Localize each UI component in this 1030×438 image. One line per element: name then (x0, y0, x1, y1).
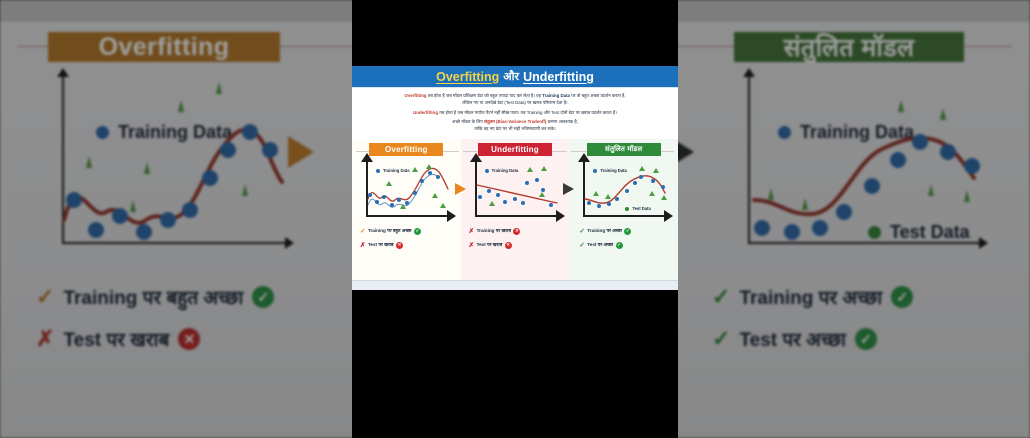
background-right-chart: Training Data Test Data (716, 72, 1006, 252)
data-point (513, 197, 517, 201)
data-point (940, 144, 956, 160)
data-point-test (527, 167, 533, 172)
error-badge-icon: ✕ (505, 242, 512, 249)
data-point-test (489, 201, 495, 206)
data-point (220, 142, 236, 158)
panel3-legend-training: Training Data (593, 168, 627, 173)
para2-line3: ताकि वह नए डेटा पर भी सही भविष्यवाणी कर … (474, 126, 555, 131)
data-point (964, 158, 980, 174)
card-header: Overfitting और Underfitting (352, 66, 678, 88)
screenshot-stage: ताकि Overfitting Training Data (0, 0, 1030, 438)
panel-underfitting: Underfitting Training Data (461, 139, 570, 280)
panel-overfitting: Overfitting Training Data (352, 139, 461, 280)
data-point-test (539, 192, 545, 197)
panel3-check-2: ✓ Test पर अच्छा ✓ (579, 241, 622, 249)
data-point (478, 195, 482, 199)
cross-icon: ✗ (36, 326, 54, 352)
card-footer-strip (352, 280, 678, 290)
check-label: Training पर अच्छा (587, 228, 622, 234)
data-point-test (178, 100, 184, 112)
check-label: Training पर बहुत अच्छा (368, 228, 411, 234)
data-point (496, 193, 500, 197)
data-point-test (898, 100, 904, 112)
header-word-underfitting: Underfitting (523, 70, 594, 84)
cross-icon: ✗ (469, 241, 474, 249)
panel-overfitting-chart: Training Data (360, 159, 456, 221)
legend-label: Test Data (632, 206, 651, 211)
cross-icon: ✗ (469, 227, 474, 235)
error-badge-icon: ✕ (513, 228, 520, 235)
check-label: Test पर अच्छा (739, 326, 846, 352)
data-point-test (440, 203, 446, 208)
panel2-check-2: ✗ Test पर खराब ✕ (469, 241, 512, 249)
header-conjunction: और (503, 69, 519, 84)
data-point-test (940, 108, 946, 120)
data-point-test (928, 184, 934, 196)
data-point-test (400, 204, 406, 209)
success-badge-icon: ✓ (616, 242, 623, 249)
check-icon: ✓ (579, 241, 584, 249)
panel-label-overfitting: Overfitting (369, 143, 443, 156)
check-label: Training पर अच्छा (739, 284, 882, 310)
blue-dot-icon (485, 169, 489, 173)
data-point (521, 201, 525, 205)
check-label: Test पर खराब (477, 242, 503, 248)
check-icon: ✓ (712, 326, 730, 352)
data-point (503, 200, 507, 204)
panel-label-underfitting: Underfitting (478, 143, 552, 156)
data-point (525, 181, 529, 185)
panel3-legend-test: Test Data (625, 206, 651, 211)
data-point-test (412, 167, 418, 172)
data-point (864, 178, 880, 194)
panel-balanced-chart: Training Data Test Data (577, 159, 673, 221)
success-badge-icon: ✓ (414, 228, 421, 235)
background-left-check-1: ✓ Training पर बहुत अच्छा ✓ (36, 284, 274, 310)
data-point (242, 124, 258, 140)
legend-label: Training Data (383, 168, 410, 173)
background-left-title: Overfitting (48, 32, 280, 62)
data-point-test (541, 166, 547, 171)
data-point-test (130, 200, 136, 212)
panel1-check-2: ✗ Test पर खराब ✕ (360, 241, 403, 249)
blue-dot-icon (376, 169, 380, 173)
paragraph-underfitting: Underfitting तब होता है जब मॉडल पर्याप्त… (360, 110, 670, 117)
infographic-card: Overfitting और Underfitting Overfitting … (352, 66, 678, 290)
kw-underfitting: Underfitting (413, 110, 438, 115)
success-badge-icon: ✓ (891, 286, 913, 308)
panel2-check-1: ✗ Training पर खराब ✕ (469, 227, 521, 235)
data-point-test (86, 156, 92, 168)
data-point (754, 220, 770, 236)
background-left-check-2: ✗ Test पर खराब ✕ (36, 326, 200, 352)
panel-underfitting-chart: Training Data (469, 159, 565, 221)
background-right-check-1: ✓ Training पर अच्छा ✓ (712, 284, 913, 310)
data-point-test (432, 193, 438, 198)
panel-balanced-model: संतुलित मॉडल Training Data Test Data (569, 139, 678, 280)
data-point (88, 222, 104, 238)
check-icon: ✓ (360, 227, 365, 235)
data-point-test (768, 188, 774, 200)
data-point-test (649, 191, 655, 196)
panel2-legend: Training Data (485, 168, 519, 173)
data-point (182, 202, 198, 218)
data-point-test (605, 194, 611, 199)
data-point-test (242, 184, 248, 196)
kw-training-data: Training Data (542, 93, 570, 98)
kw-overfitting: Overfitting (404, 93, 426, 98)
data-point-test (661, 195, 667, 200)
success-badge-icon: ✓ (855, 328, 877, 350)
data-point (912, 134, 928, 150)
data-point (836, 204, 852, 220)
para2-line1: अच्छे मॉडल के लिए (452, 119, 484, 124)
kw-bias-variance-tradeoff: संतुलन (Bias-Variance Tradeoff) (484, 119, 546, 124)
data-point-test (144, 162, 150, 174)
para1-line1: तब होता है जब मॉडल पर्याप्त पैटर्न नहीं … (438, 110, 617, 115)
card-body: Overfitting तब होता है जब मॉडल प्रशिक्षण… (352, 88, 678, 139)
data-point-test (802, 198, 808, 210)
background-left-chart: Training Data (30, 72, 310, 252)
video-player-frame[interactable]: Overfitting और Underfitting Overfitting … (352, 0, 678, 438)
check-label: Test पर खराब (63, 326, 169, 352)
data-point (136, 224, 152, 240)
data-point (66, 192, 82, 208)
data-point (262, 142, 278, 158)
data-point-test (426, 164, 432, 169)
background-right-check-2: ✓ Test पर अच्छा ✓ (712, 326, 877, 352)
check-label: Training पर बहुत अच्छा (63, 284, 243, 310)
check-icon: ✓ (36, 284, 54, 310)
check-label: Test पर खराब (368, 242, 394, 248)
panel1-legend: Training Data (376, 168, 410, 173)
success-badge-icon: ✓ (624, 228, 631, 235)
check-icon: ✓ (712, 284, 730, 310)
data-point (784, 224, 800, 240)
data-point (112, 208, 128, 224)
error-badge-icon: ✕ (396, 242, 403, 249)
para0-line1: तब होता है जब मॉडल प्रशिक्षण डेटा को बहु… (427, 93, 543, 98)
data-point (549, 203, 553, 207)
para0-line2: पर तो बहुत अच्छा प्रदर्शन करता है, (570, 93, 626, 98)
comparison-panels: Overfitting Training Data (352, 139, 678, 280)
blue-dot-icon (593, 169, 597, 173)
panel-label-balanced: संतुलित मॉडल (587, 143, 661, 156)
data-point (535, 178, 539, 182)
data-point-test (639, 166, 645, 171)
data-point-test (653, 168, 659, 173)
success-badge-icon: ✓ (252, 286, 274, 308)
background-left-arrow-icon (288, 136, 314, 168)
data-point (890, 152, 906, 168)
paragraph-tradeoff: अच्छे मॉडल के लिए संतुलन (Bias-Variance … (360, 119, 670, 133)
para2-line2: बनाना आवश्यक है, (546, 119, 578, 124)
data-point-test (593, 191, 599, 196)
legend-label: Training Data (600, 168, 627, 173)
arrow-to-underfitting-icon (455, 183, 466, 195)
data-point (812, 220, 828, 236)
arrow-to-balanced-icon (563, 183, 574, 195)
background-right-title: संतुलित मॉडल (734, 32, 964, 62)
paragraph-overfitting: Overfitting तब होता है जब मॉडल प्रशिक्षण… (360, 93, 670, 107)
data-point-test (386, 181, 392, 186)
header-word-overfitting: Overfitting (436, 70, 499, 84)
check-icon: ✓ (579, 227, 584, 235)
panel3-check-1: ✓ Training पर अच्छा ✓ (579, 227, 631, 235)
check-label: Test पर अच्छा (587, 242, 613, 248)
data-point-test (964, 190, 970, 202)
data-point (487, 189, 491, 193)
cross-icon: ✗ (360, 241, 365, 249)
check-label: Training पर खराब (477, 228, 511, 234)
legend-label: Training Data (492, 168, 519, 173)
error-badge-icon: ✕ (178, 328, 200, 350)
panel1-check-1: ✓ Training पर बहुत अच्छा ✓ (360, 227, 421, 235)
data-point (202, 170, 218, 186)
data-point-test (216, 82, 222, 94)
green-dot-icon (625, 207, 629, 211)
data-point (160, 212, 176, 228)
para0-line3: लेकिन नए या अनदेखे डेटा (Test Data) पर ख… (462, 100, 567, 105)
